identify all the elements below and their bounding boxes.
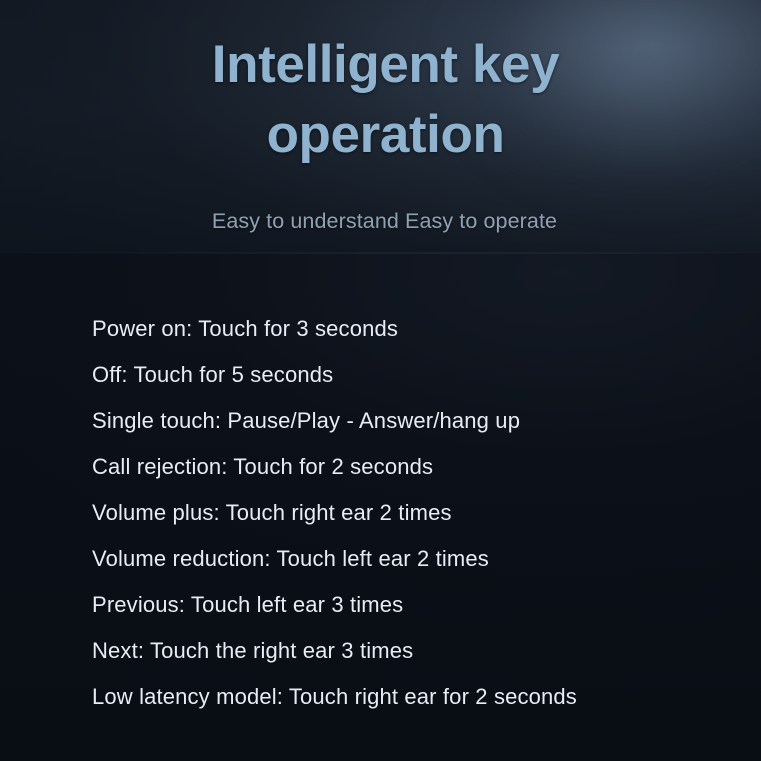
list-item: Volume plus: Touch right ear 2 times <box>92 490 732 536</box>
instruction-list: Power on: Touch for 3 seconds Off: Touch… <box>92 306 732 720</box>
title-line-1: Intelligent key <box>212 35 559 94</box>
title-line-2: operation <box>267 105 505 164</box>
page-title: Intelligent keyoperation <box>0 30 761 171</box>
list-item: Single touch: Pause/Play - Answer/hang u… <box>92 398 732 444</box>
list-item: Next: Touch the right ear 3 times <box>92 628 732 674</box>
list-item: Power on: Touch for 3 seconds <box>92 306 732 352</box>
product-info-poster: Intelligent keyoperation Easy to underst… <box>0 0 761 761</box>
list-item: Call rejection: Touch for 2 seconds <box>92 444 732 490</box>
list-item: Off: Touch for 5 seconds <box>92 352 732 398</box>
title-heading: Intelligent keyoperation <box>10 30 761 171</box>
list-item: Volume reduction: Touch left ear 2 times <box>92 536 732 582</box>
list-item: Low latency model: Touch right ear for 2… <box>92 674 732 720</box>
poster-content: Intelligent keyoperation Easy to underst… <box>0 0 761 761</box>
list-item: Previous: Touch left ear 3 times <box>92 582 732 628</box>
page-subtitle: Easy to understand Easy to operate <box>0 209 761 234</box>
